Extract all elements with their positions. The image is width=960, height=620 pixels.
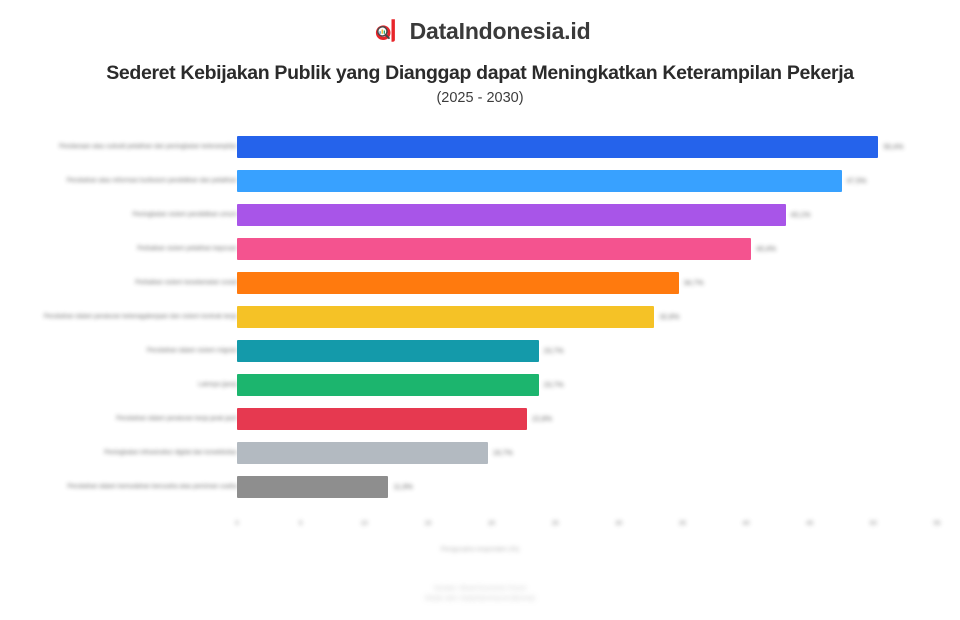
category-label: Perubahan dalam peraturan kerja jarak ja…: [22, 402, 237, 436]
category-label: Pendanaan atau subsidi pelatihan dan pen…: [22, 130, 237, 164]
bar-with-value: 34,7%: [237, 272, 703, 294]
footer-source-line: Sumber: World Economic Forum: [0, 584, 960, 594]
bar-row: Perubahan atau reformasi kurikulum pendi…: [0, 164, 960, 198]
bar-with-value: 23,7%: [237, 374, 563, 396]
bar-row: Perubahan dalam peraturan ketenagakerjaa…: [0, 300, 960, 334]
bar-value-label: 34,7%: [684, 280, 704, 287]
bar: [237, 374, 539, 396]
chart-title: Sederet Kebijakan Publik yang Dianggap d…: [0, 62, 960, 85]
bar-row: Peningkatan sistem pendidikan umum43,1%: [0, 198, 960, 232]
bar-value-label: 19,7%: [493, 450, 513, 457]
x-tick-label: 0: [220, 520, 254, 527]
brand-header: DataIndonesia.id: [0, 16, 960, 46]
chart-subtitle: (2025 - 2030): [0, 90, 960, 106]
x-tick-label: 35: [665, 520, 699, 527]
bar-value-label: 40,4%: [756, 246, 776, 253]
bar-with-value: 11,9%: [237, 476, 413, 498]
bar: [237, 442, 488, 464]
bar-with-value: 47,5%: [237, 170, 866, 192]
bar-value-label: 43,1%: [791, 212, 811, 219]
category-label: Perbaikan sistem keselamatan sosial: [22, 266, 237, 300]
bar-row: Perubahan dalam peraturan kerja jarak ja…: [0, 402, 960, 436]
bar-with-value: 19,7%: [237, 442, 513, 464]
footer-processed-line: Diolah oleh: DataIndonesia.id (Blurred): [0, 594, 960, 604]
bar-row: Perbaikan sistem keselamatan sosial34,7%: [0, 266, 960, 300]
bar-row: Pendanaan atau subsidi pelatihan dan pen…: [0, 130, 960, 164]
bar-with-value: 40,4%: [237, 238, 776, 260]
bar-value-label: 50,4%: [883, 144, 903, 151]
x-tick-label: 50: [856, 520, 890, 527]
bar-row: Peningkatan infrastruktur digital dan ko…: [0, 436, 960, 470]
category-label: Perubahan dalam sistem migrasi: [22, 334, 237, 368]
bar: [237, 272, 679, 294]
bar: [237, 170, 842, 192]
bar: [237, 476, 388, 498]
x-tick-label: 5: [284, 520, 318, 527]
bar: [237, 408, 527, 430]
category-label: Peningkatan sistem pendidikan umum: [22, 198, 237, 232]
x-tick-label: 10: [347, 520, 381, 527]
bar-value-label: 11,9%: [393, 484, 412, 491]
x-tick-label: 25: [538, 520, 572, 527]
bar-chart-plot-area: Pendanaan atau subsidi pelatihan dan pen…: [0, 130, 960, 520]
bar-row: Perubahan dalam sistem migrasi23,7%: [0, 334, 960, 368]
x-axis-title: Pengusaha responden (%): [0, 546, 960, 553]
brand-name: DataIndonesia.id: [410, 20, 591, 43]
dataindonesia-logo-icon: [370, 16, 400, 46]
chart-page: DataIndonesia.id Sederet Kebijakan Publi…: [0, 0, 960, 620]
bar-with-value: 23,7%: [237, 340, 563, 362]
bar-with-value: 43,1%: [237, 204, 810, 226]
bar-row: Perubahan dalam kemudahan berusaha atau …: [0, 470, 960, 504]
chart-footer: Sumber: World Economic Forum Diolah oleh…: [0, 584, 960, 605]
category-label: Perbaikan sistem pelatihan kejuruan: [22, 232, 237, 266]
bar-value-label: 23,7%: [544, 382, 564, 389]
bar-with-value: 50,4%: [237, 136, 903, 158]
x-tick-label: 20: [475, 520, 509, 527]
bar-row: Lainnya (jasa)23,7%: [0, 368, 960, 402]
category-label: Lainnya (jasa): [22, 368, 237, 402]
bar-with-value: 22,8%: [237, 408, 552, 430]
bar-value-label: 47,5%: [847, 178, 867, 185]
category-label: Peningkatan infrastruktur digital dan ko…: [22, 436, 237, 470]
category-label: Perubahan dalam peraturan ketenagakerjaa…: [22, 300, 237, 334]
bar: [237, 238, 751, 260]
bar-with-value: 32,8%: [237, 306, 679, 328]
x-tick-label: 45: [793, 520, 827, 527]
bar-value-label: 23,7%: [544, 348, 564, 355]
bar-value-label: 22,8%: [532, 416, 552, 423]
bar: [237, 136, 878, 158]
bar: [237, 306, 654, 328]
x-tick-label: 30: [602, 520, 636, 527]
x-tick-label: 55: [920, 520, 954, 527]
category-label: Perubahan dalam kemudahan berusaha atau …: [22, 470, 237, 504]
x-axis-ticks: 0510152025303540455055: [0, 520, 960, 540]
bar-row: Perbaikan sistem pelatihan kejuruan40,4%: [0, 232, 960, 266]
bar-value-label: 32,8%: [659, 314, 679, 321]
bar: [237, 340, 539, 362]
x-tick-label: 40: [729, 520, 763, 527]
x-tick-label: 15: [411, 520, 445, 527]
category-label: Perubahan atau reformasi kurikulum pendi…: [22, 164, 237, 198]
bar: [237, 204, 786, 226]
